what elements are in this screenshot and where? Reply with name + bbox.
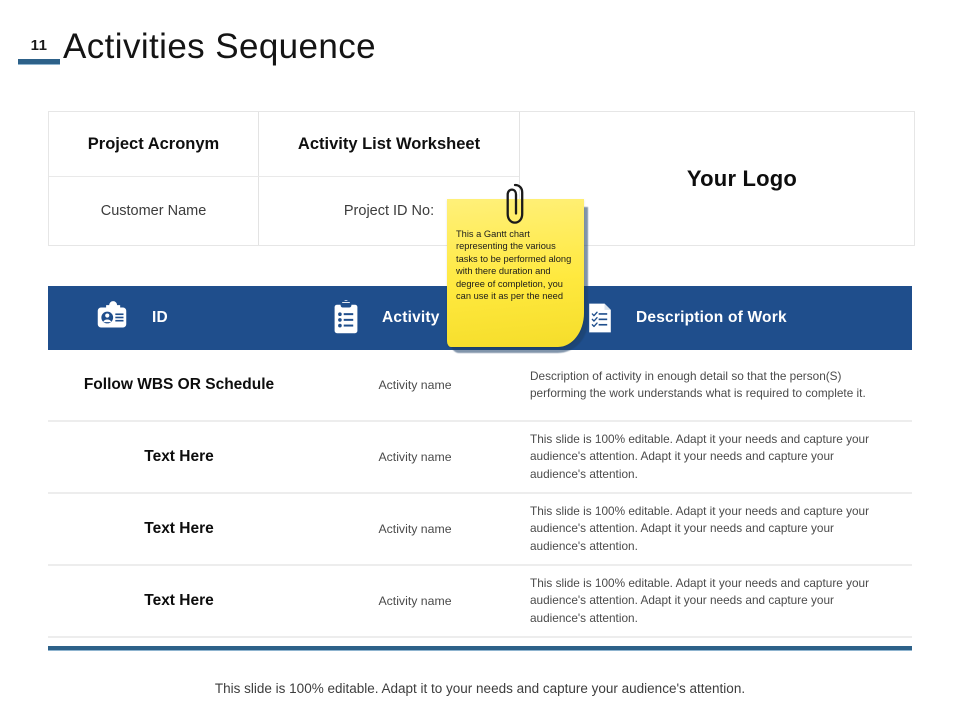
row-id-value: Text Here xyxy=(48,585,310,617)
table-row[interactable]: Text Here Activity name This slide is 10… xyxy=(48,566,912,638)
table-row[interactable]: Text Here Activity name This slide is 10… xyxy=(48,494,912,566)
logo-placeholder[interactable]: Your Logo xyxy=(569,112,915,245)
row-id-value: Text Here xyxy=(48,441,310,473)
slide-footer: This slide is 100% editable. Adapt it to… xyxy=(0,681,960,696)
table-bottom-rule xyxy=(48,646,912,651)
row-description-value: This slide is 100% editable. Adapt it yo… xyxy=(520,497,912,562)
clipboard-checklist-icon xyxy=(326,298,366,338)
sticky-note[interactable]: This a Gantt chart representing the vari… xyxy=(447,199,587,354)
activity-list-worksheet-header: Activity List Worksheet xyxy=(259,112,519,176)
id-badge-icon xyxy=(92,298,132,338)
column-header-description-label: Description of Work xyxy=(636,309,787,327)
row-description-value: This slide is 100% editable. Adapt it yo… xyxy=(520,569,912,634)
column-header-id[interactable]: ID xyxy=(48,298,310,338)
project-acronym-header: Project Acronym xyxy=(49,112,258,176)
table-row[interactable]: Follow WBS OR Schedule Activity name Des… xyxy=(48,350,912,422)
sticky-note-text: This a Gantt chart representing the vari… xyxy=(456,228,574,302)
slide-number-block: 11 xyxy=(18,38,60,65)
column-header-id-label: ID xyxy=(152,309,168,327)
row-description-value: Description of activity in enough detail… xyxy=(520,362,912,409)
slide-number-underline xyxy=(18,59,60,65)
row-activity-value: Activity name xyxy=(310,516,520,542)
row-id-value: Follow WBS OR Schedule xyxy=(48,369,310,401)
column-header-activity-label: Activity xyxy=(382,309,440,327)
row-activity-value: Activity name xyxy=(310,444,520,470)
row-activity-value: Activity name xyxy=(310,588,520,614)
page-title: Activities Sequence xyxy=(63,27,376,67)
row-id-value: Text Here xyxy=(48,513,310,545)
row-description-value: This slide is 100% editable. Adapt it yo… xyxy=(520,425,912,490)
customer-name-value[interactable]: Customer Name xyxy=(49,177,258,245)
row-activity-value: Activity name xyxy=(310,372,520,398)
paperclip-icon xyxy=(502,182,528,228)
slide-header: 11 Activities Sequence xyxy=(0,0,960,95)
table-row[interactable]: Text Here Activity name This slide is 10… xyxy=(48,422,912,494)
slide-number: 11 xyxy=(18,38,60,54)
